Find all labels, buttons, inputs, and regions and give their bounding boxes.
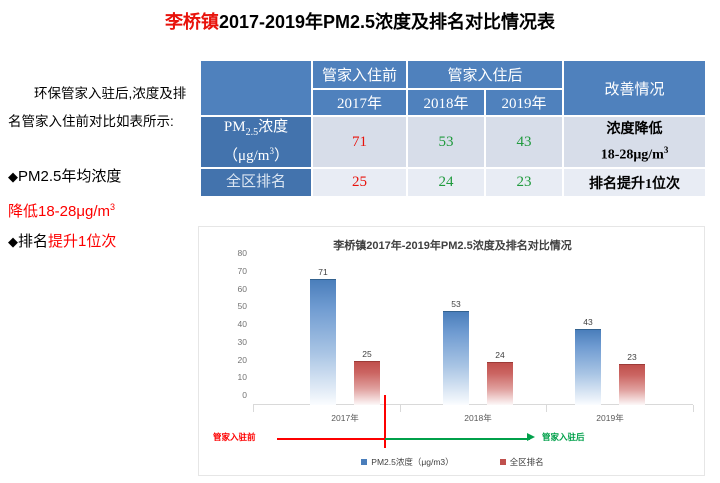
- unit-exponent: 3: [110, 202, 115, 212]
- concentration-drop-value: 降低18-28μg/m: [8, 203, 110, 220]
- col-group-after: 管家入住后: [408, 61, 562, 88]
- list-item: ◆PM2.5年均浓度: [8, 162, 194, 192]
- row-header-pm-text: PM: [224, 119, 246, 135]
- chart-bar: 43: [575, 329, 601, 405]
- cell-rank-2019: 23: [486, 169, 562, 196]
- improvement-unit-sup: 3: [664, 145, 669, 155]
- legend-item-label: 全区排名: [510, 456, 544, 468]
- chart-bar-value-label: 24: [495, 350, 504, 360]
- chart-bar: 71: [310, 279, 336, 405]
- improvement-line-1: 浓度降低: [607, 122, 663, 137]
- legend-item[interactable]: PM2.5浓度（μg/m3）: [361, 456, 453, 468]
- legend-swatch-icon: [500, 459, 506, 465]
- page-title-highlight: 李桥镇: [165, 12, 219, 32]
- list-item-value: 降低18-28μg/m3: [8, 192, 194, 227]
- col-year-2018: 2018年: [408, 90, 484, 115]
- legend-swatch-icon: [361, 459, 367, 465]
- y-axis-tick-label: 40: [238, 319, 247, 329]
- comparison-table: 管家入住前 管家入住后 改善情况 2017年 2018年 2019年 PM2.5…: [199, 59, 705, 198]
- y-axis-tick-label: 20: [238, 355, 247, 365]
- list-item: ◆排名提升1位次: [8, 227, 194, 257]
- y-axis-tick-label: 50: [238, 301, 247, 311]
- sidebar-bullets: ◆PM2.5年均浓度 降低18-28μg/m3 ◆排名提升1位次: [8, 162, 194, 257]
- chart-bar: 23: [619, 364, 645, 405]
- improvement-line-2: 18-28μg/m: [601, 147, 664, 162]
- col-group-before: 管家入住前: [313, 61, 406, 88]
- row-header-pm25: PM2.5浓度 （μg/m3）: [201, 117, 311, 167]
- cell-rank-2018: 24: [408, 169, 484, 196]
- legend-item-label: PM2.5浓度（μg/m3）: [371, 456, 453, 468]
- chart-legend: PM2.5浓度（μg/m3）全区排名: [199, 456, 706, 468]
- y-axis-tick-label: 10: [238, 372, 247, 382]
- y-axis-tick-label: 30: [238, 337, 247, 347]
- x-axis-separator-tick: [253, 405, 254, 412]
- chart-bar-value-label: 71: [318, 267, 327, 277]
- chart-bar: 53: [443, 311, 469, 405]
- chart-bar: 25: [354, 361, 380, 405]
- chart-bar-value-label: 53: [451, 299, 460, 309]
- x-axis-tick-label: 2018年: [464, 412, 491, 424]
- annotation-after-line: [385, 438, 530, 440]
- row-header-pm-subscript: 2.5: [246, 127, 259, 138]
- table-row: 全区排名 25 24 23 排名提升1位次: [201, 169, 705, 196]
- page-title-rest: 2017-2019年PM2.5浓度及排名对比情况表: [219, 12, 555, 32]
- col-year-2019: 2019年: [486, 90, 562, 115]
- rank-improve-value: 提升1位次: [48, 233, 116, 250]
- y-axis-tick-label: 70: [238, 266, 247, 276]
- x-axis-separator-tick: [693, 405, 694, 412]
- y-axis-tick-label: 60: [238, 284, 247, 294]
- table-header-row-groups: 管家入住前 管家入住后 改善情况: [201, 61, 705, 88]
- chart-title: 李桥镇2017年-2019年PM2.5浓度及排名对比情况: [199, 237, 706, 253]
- x-axis-separator-tick: [400, 405, 401, 412]
- row-header-pm-tail: 浓度: [258, 119, 288, 135]
- row-header-rank: 全区排名: [201, 169, 311, 196]
- row-header-unit-close: ）: [274, 148, 289, 164]
- chart-bar-value-label: 23: [627, 352, 636, 362]
- table-row: PM2.5浓度 （μg/m3） 71 53 43 浓度降低 18-28μg/m3: [201, 117, 705, 167]
- diamond-bullet-icon: ◆: [8, 169, 18, 184]
- arrow-head-icon: [527, 433, 535, 441]
- x-axis-tick-label: 2019年: [596, 412, 623, 424]
- cell-pm25-improvement: 浓度降低 18-28μg/m3: [564, 117, 705, 167]
- cell-rank-improvement: 排名提升1位次: [564, 169, 705, 196]
- diamond-bullet-icon: ◆: [8, 234, 18, 249]
- list-item-label: PM2.5年均浓度: [18, 168, 121, 185]
- annotation-before-label: 管家入驻前: [213, 431, 256, 443]
- cell-pm25-2017: 71: [313, 117, 406, 167]
- chart-plot-area: 01020304050607080 712553244323 2017年2018…: [253, 263, 693, 405]
- col-improvement: 改善情况: [564, 61, 705, 115]
- phase-divider-line: [384, 395, 386, 448]
- annotation-before-line: [277, 438, 384, 440]
- x-axis-separator-tick: [546, 405, 547, 412]
- legend-item[interactable]: 全区排名: [500, 456, 544, 468]
- cell-pm25-2018: 53: [408, 117, 484, 167]
- row-header-unit-open: （μg/m: [223, 148, 269, 164]
- y-axis-tick-label: 0: [242, 390, 247, 400]
- annotation-after-label: 管家入驻后: [542, 431, 585, 443]
- chart-bar-value-label: 43: [583, 317, 592, 327]
- cell-rank-2017: 25: [313, 169, 406, 196]
- chart-card: 李桥镇2017年-2019年PM2.5浓度及排名对比情况 01020304050…: [198, 226, 705, 476]
- x-axis-tick-label: 2017年: [331, 412, 358, 424]
- sidebar-paragraph: 环保管家入驻后,浓度及排名管家入住前对比如表所示:: [8, 80, 194, 136]
- y-axis-tick-label: 80: [238, 248, 247, 258]
- table-corner-cell: [201, 61, 311, 115]
- list-item-label: 排名: [18, 233, 48, 250]
- cell-pm25-2019: 43: [486, 117, 562, 167]
- col-year-2017: 2017年: [313, 90, 406, 115]
- chart-bar: 24: [487, 362, 513, 405]
- page-title: 李桥镇2017-2019年PM2.5浓度及排名对比情况表: [0, 8, 720, 34]
- sidebar: 环保管家入驻后,浓度及排名管家入住前对比如表所示: ◆PM2.5年均浓度 降低1…: [8, 80, 194, 257]
- chart-bar-value-label: 25: [362, 349, 371, 359]
